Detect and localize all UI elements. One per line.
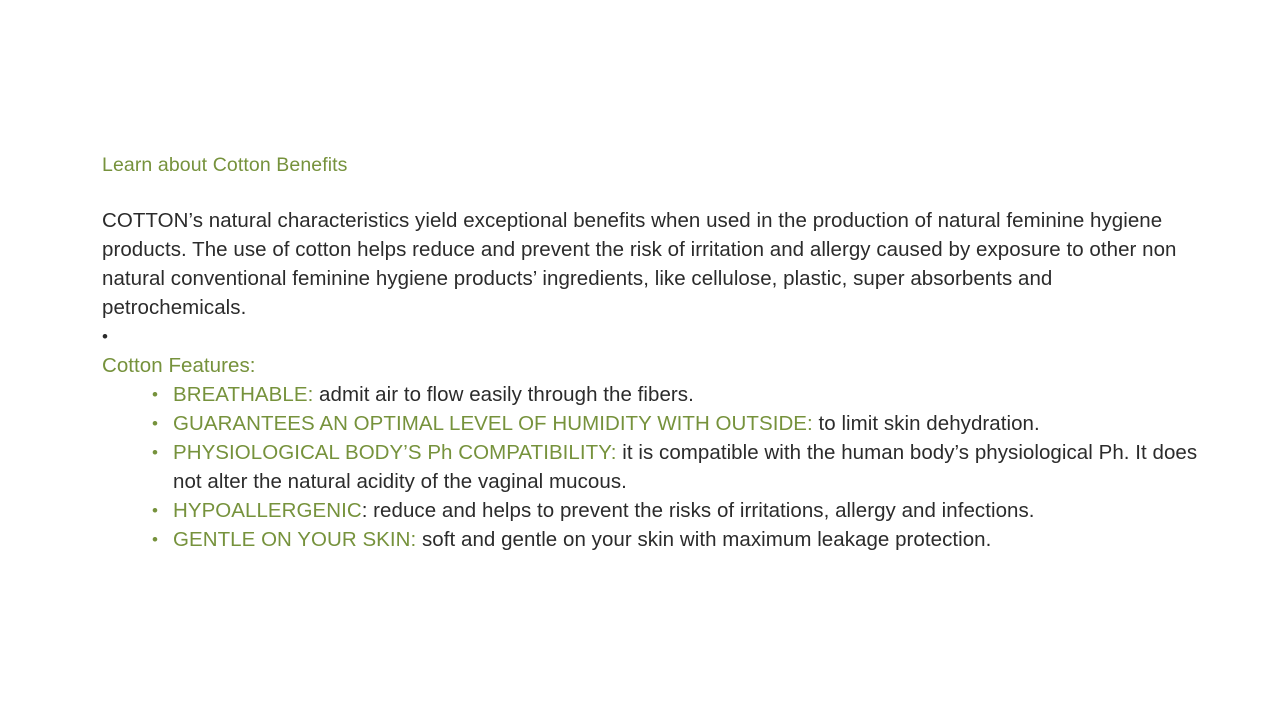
feature-term: GUARANTEES AN OPTIMAL LEVEL OF HUMIDITY … — [173, 412, 807, 435]
feature-list-item: •GENTLE ON YOUR SKIN: soft and gentle on… — [102, 525, 1198, 554]
feature-term: GENTLE ON YOUR SKIN — [173, 528, 411, 551]
feature-list-item: •BREATHABLE: admit air to flow easily th… — [102, 380, 1198, 409]
slide-content-body: Learn about Cotton Benefits COTTON’s nat… — [102, 150, 1198, 554]
feature-description: admit air to flow easily through the fib… — [313, 383, 694, 406]
feature-list-item: •HYPOALLERGENIC: reduce and helps to pre… — [102, 496, 1198, 525]
slide-heading: Learn about Cotton Benefits — [102, 150, 1198, 180]
empty-bullet-line: • — [102, 322, 1198, 351]
slide-canvas: Learn about Cotton Benefits COTTON’s nat… — [0, 0, 1280, 720]
bullet-icon: • — [152, 380, 158, 409]
feature-description: soft and gentle on your skin with maximu… — [416, 528, 991, 551]
bullet-icon: • — [152, 525, 158, 554]
feature-description: to limit skin dehydration. — [813, 412, 1040, 435]
bullet-icon: • — [152, 438, 158, 467]
bullet-icon: • — [152, 496, 158, 525]
cotton-features-label: Cotton Features: — [102, 351, 1198, 380]
feature-term: BREATHABLE — [173, 383, 308, 406]
feature-term: PHYSIOLOGICAL BODY’S Ph COMPATIBILITY — [173, 441, 611, 464]
feature-description: reduce and helps to prevent the risks of… — [367, 499, 1034, 522]
intro-paragraph: COTTON’s natural characteristics yield e… — [102, 206, 1198, 322]
feature-list: •BREATHABLE: admit air to flow easily th… — [102, 380, 1198, 554]
bullet-icon: • — [102, 322, 108, 351]
bullet-icon: • — [152, 409, 158, 438]
feature-term: HYPOALLERGENIC — [173, 499, 362, 522]
feature-list-item: •PHYSIOLOGICAL BODY’S Ph COMPATIBILITY: … — [102, 438, 1198, 496]
feature-list-item: •GUARANTEES AN OPTIMAL LEVEL OF HUMIDITY… — [102, 409, 1198, 438]
